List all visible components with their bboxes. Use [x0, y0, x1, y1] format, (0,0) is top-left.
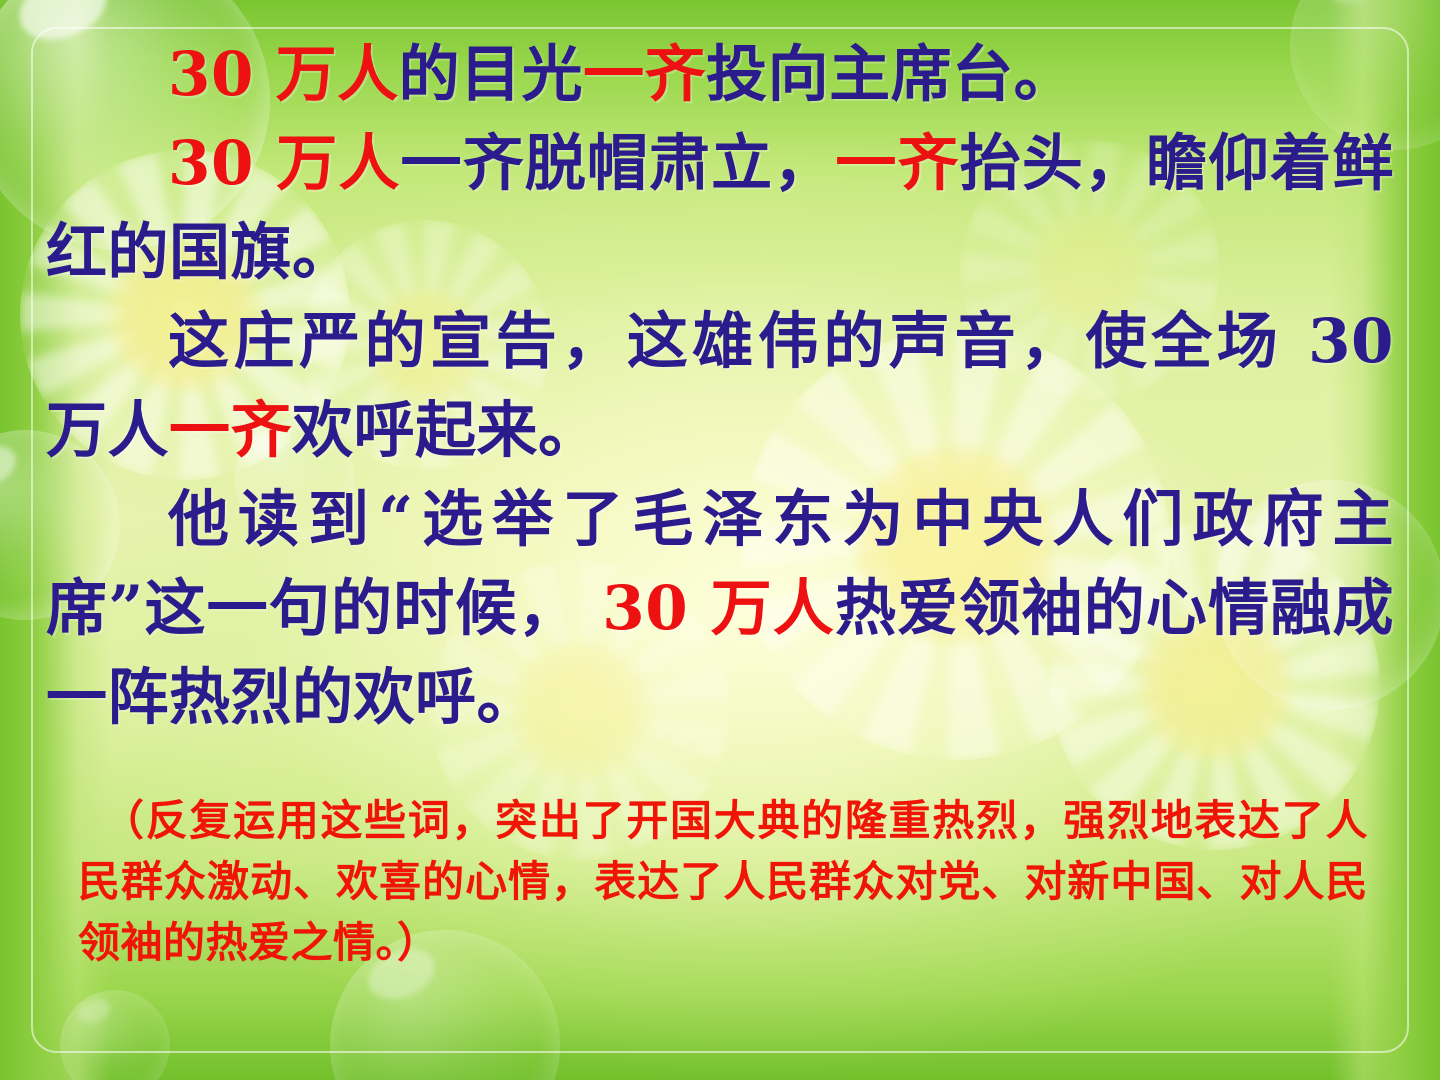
text-run: 一齐脱帽肃立， — [401, 128, 836, 199]
presentation-slide: 30 万人的目光一齐投向主席台。 30 万人一齐脱帽肃立，一齐抬头，瞻仰着鲜红的… — [0, 0, 1440, 1080]
emphasis-run: 30 万人 — [602, 573, 835, 644]
emphasis-run: 一齐 — [583, 39, 706, 110]
emphasis-run: 一齐 — [835, 128, 959, 199]
commentary-block: （反复运用这些词，突出了开国大典的隆重热烈，强烈地表达了人民群众激动、欢喜的心情… — [78, 790, 1368, 973]
body-paragraph-4: 他读到“选举了毛泽东为中央人们政府主席”这一句的时候， 30 万人热爱领袖的心情… — [46, 475, 1394, 742]
text-run: 投向主席台。 — [706, 39, 1075, 110]
body-paragraph-2: 30 万人一齐脱帽肃立，一齐抬头，瞻仰着鲜红的国旗。 — [46, 119, 1394, 297]
text-run: 欢呼起来。 — [292, 395, 600, 466]
commentary-paragraph: （反复运用这些词，突出了开国大典的隆重热烈，强烈地表达了人民群众激动、欢喜的心情… — [78, 790, 1368, 973]
emphasis-run: 一齐 — [169, 395, 292, 466]
body-paragraph-1: 30 万人的目光一齐投向主席台。 — [46, 30, 1394, 119]
emphasis-run: 30 万人 — [168, 128, 401, 199]
body-paragraph-3: 这庄严的宣告，这雄伟的声音，使全场 30 万人一齐欢呼起来。 — [46, 297, 1394, 475]
body-text-block: 30 万人的目光一齐投向主席台。 30 万人一齐脱帽肃立，一齐抬头，瞻仰着鲜红的… — [46, 30, 1394, 742]
slide-content: 30 万人的目光一齐投向主席台。 30 万人一齐脱帽肃立，一齐抬头，瞻仰着鲜红的… — [0, 0, 1440, 1080]
text-run: 的目光 — [399, 39, 584, 110]
emphasis-run: 30 万人 — [168, 39, 399, 110]
